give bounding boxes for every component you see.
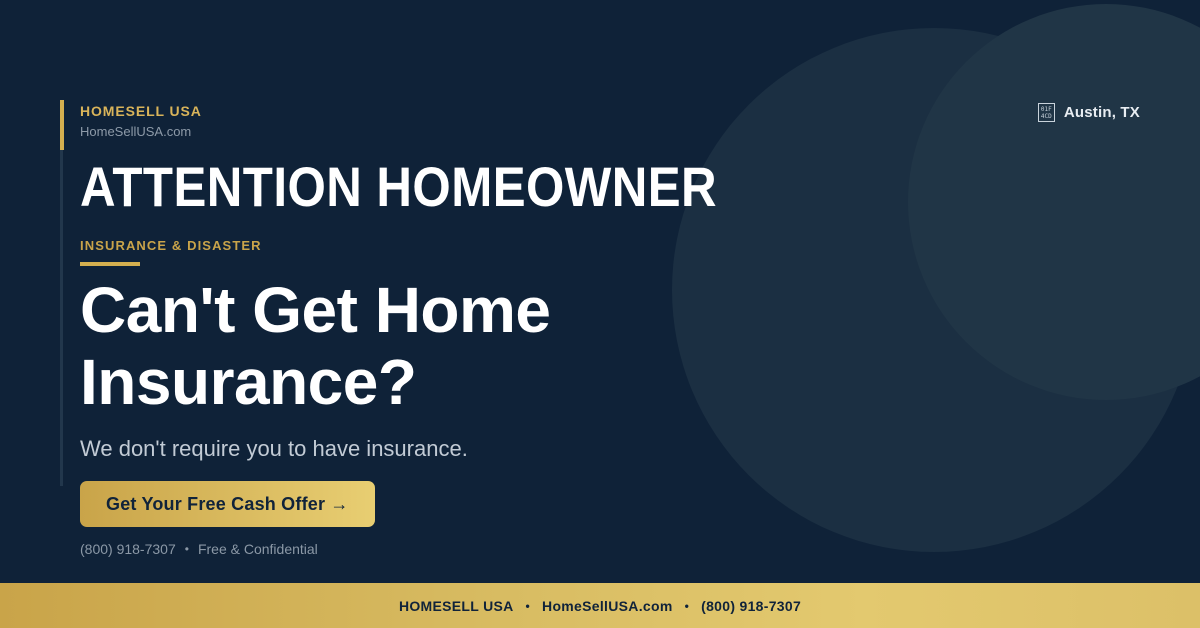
brand-website: HomeSellUSA.com <box>80 125 202 139</box>
footer-separator-2-icon: • <box>685 599 690 613</box>
category-eyebrow: INSURANCE & DISASTER <box>80 238 262 253</box>
get-free-cash-offer-button[interactable]: Get Your Free Cash Offer → <box>80 481 375 527</box>
footer-website[interactable]: HomeSellUSA.com <box>542 598 673 614</box>
contact-meta: (800) 918-7307 • Free & Confidential <box>80 541 318 557</box>
meta-note: Free & Confidential <box>198 541 318 557</box>
brand-name: HOMESELL USA <box>80 104 202 119</box>
tofu-codepoint-bottom: 4CD <box>1041 113 1052 120</box>
location-label: Austin, TX <box>1064 104 1140 121</box>
footer-brand: HOMESELL USA <box>399 598 514 614</box>
left-vertical-rule <box>60 100 63 486</box>
footer-separator-1-icon: • <box>526 599 531 613</box>
meta-phone[interactable]: (800) 918-7307 <box>80 541 176 557</box>
left-gold-accent-bar <box>60 100 64 150</box>
brand-block: HOMESELL USA HomeSellUSA.com <box>80 104 202 140</box>
footer-bar: HOMESELL USA • HomeSellUSA.com • (800) 9… <box>0 583 1200 628</box>
page-title: Can't Get Home Insurance? <box>80 274 700 419</box>
eyebrow-underline <box>80 262 140 266</box>
footer-phone[interactable]: (800) 918-7307 <box>701 598 801 614</box>
location-badge: 01F 4CD Austin, TX <box>1038 103 1140 122</box>
meta-separator-icon: • <box>185 542 189 556</box>
location-pin-icon: 01F 4CD <box>1038 103 1055 122</box>
tofu-codepoint-top: 01F <box>1041 106 1052 113</box>
attention-banner: ATTENTION HOMEOWNER <box>80 158 717 217</box>
subheadline: We don't require you to have insurance. <box>80 436 468 462</box>
